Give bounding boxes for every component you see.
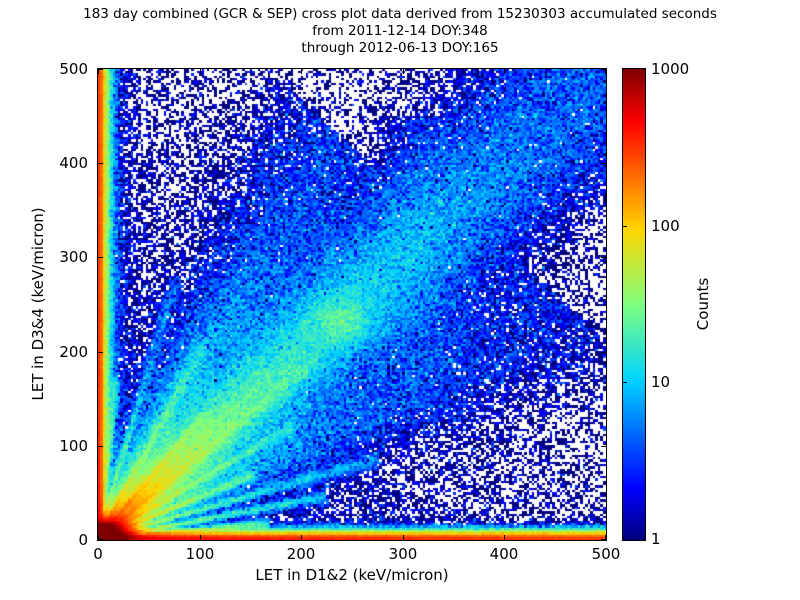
chart-title-line-1: 183 day combined (GCR & SEP) cross plot …	[0, 6, 800, 23]
colorbar-tick-label: 100	[651, 217, 680, 235]
y-tick-mark	[98, 539, 103, 540]
y-tick-mark	[601, 163, 606, 164]
y-tick-mark	[601, 352, 606, 353]
y-tick-label: 100	[59, 437, 88, 455]
colorbar-gradient	[623, 69, 645, 540]
colorbar-tick-label: 1000	[651, 60, 689, 78]
y-tick-label: 300	[59, 248, 88, 266]
colorbar-tick-label: 10	[651, 373, 670, 391]
chart-title-line-3: through 2012-06-13 DOY:165	[0, 40, 800, 57]
chart-title: 183 day combined (GCR & SEP) cross plot …	[0, 6, 800, 57]
y-tick-mark	[601, 257, 606, 258]
plot-area	[97, 68, 607, 541]
x-tick-mark	[504, 535, 505, 540]
x-tick-mark	[504, 69, 505, 74]
x-tick-label: 300	[389, 545, 418, 563]
x-tick-label: 400	[490, 545, 519, 563]
x-tick-mark	[200, 69, 201, 74]
y-tick-mark	[98, 352, 103, 353]
chart-title-line-2: from 2011-12-14 DOY:348	[0, 23, 800, 40]
x-tick-label: 500	[592, 545, 621, 563]
figure-canvas: 183 day combined (GCR & SEP) cross plot …	[0, 0, 800, 600]
y-tick-mark	[98, 163, 103, 164]
y-tick-mark	[98, 257, 103, 258]
x-tick-mark	[301, 535, 302, 540]
x-tick-label: 0	[93, 545, 103, 563]
y-tick-mark	[98, 446, 103, 447]
colorbar	[622, 68, 646, 541]
y-tick-label: 200	[59, 343, 88, 361]
density-heatmap	[98, 69, 606, 540]
y-tick-mark	[601, 539, 606, 540]
y-tick-mark	[98, 69, 103, 70]
y-axis-label-text: LET in D3&4 (keV/micron)	[29, 207, 47, 400]
colorbar-tick-label: 1	[651, 530, 661, 548]
colorbar-label-text: Counts	[694, 278, 712, 330]
colorbar-tick-mark	[623, 226, 627, 227]
y-tick-label: 0	[78, 531, 88, 549]
y-tick-label: 400	[59, 154, 88, 172]
x-tick-label: 100	[186, 545, 215, 563]
x-tick-mark	[403, 69, 404, 74]
x-tick-mark	[200, 535, 201, 540]
y-tick-label: 500	[59, 60, 88, 78]
x-tick-mark	[301, 69, 302, 74]
y-tick-mark	[601, 446, 606, 447]
x-axis-label: LET in D1&2 (keV/micron)	[97, 566, 607, 584]
x-tick-label: 200	[287, 545, 316, 563]
x-tick-mark	[403, 535, 404, 540]
colorbar-tick-mark	[623, 382, 627, 383]
y-tick-mark	[601, 69, 606, 70]
